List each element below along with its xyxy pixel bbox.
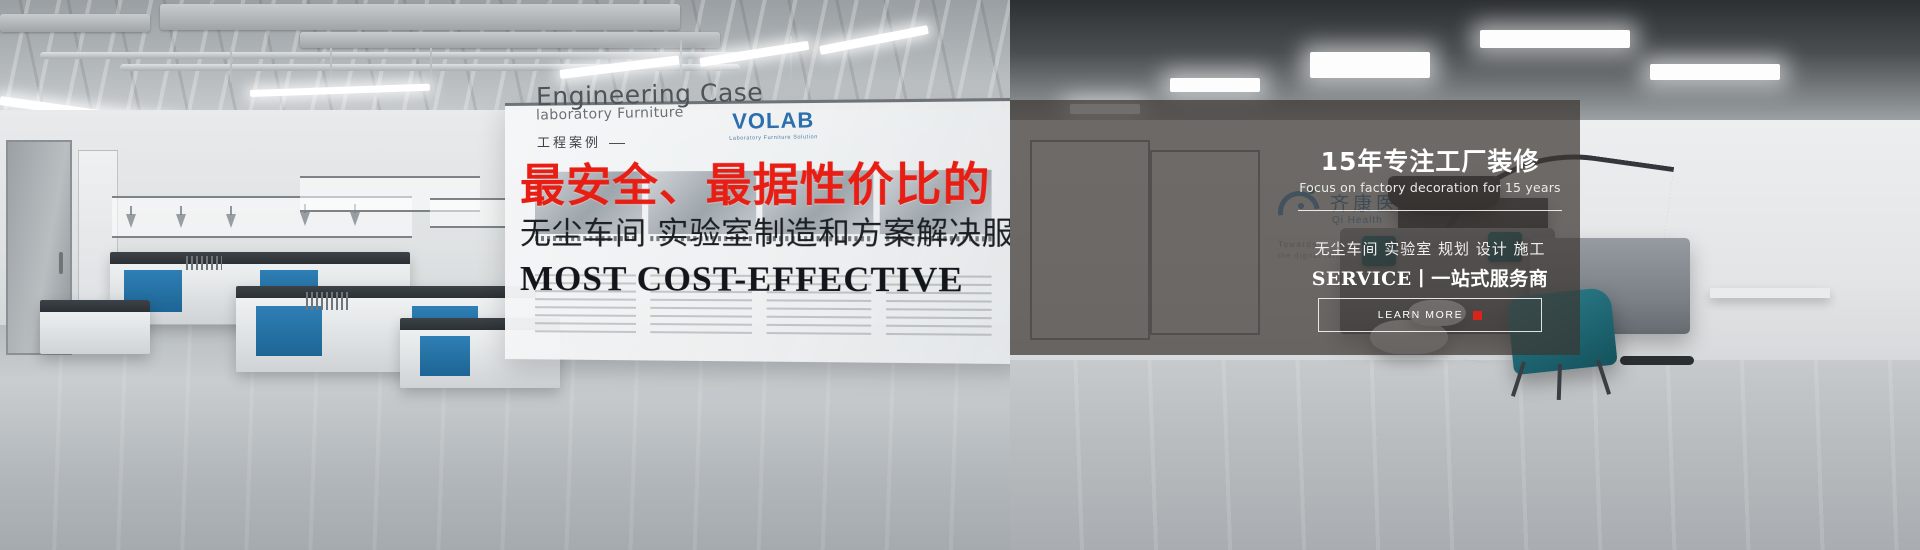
ceiling-duct <box>160 4 680 30</box>
banner-stage: Engineering Case laboratory Furniture 工程… <box>0 0 1920 550</box>
ceiling-duct <box>300 32 720 48</box>
glassware-shelf <box>430 198 510 228</box>
bench-cabinet <box>420 336 470 376</box>
ceiling-duct <box>0 14 150 32</box>
office-floor <box>1010 360 1920 550</box>
volab-logo: VOLAB Laboratory Furniture Solution <box>729 107 818 142</box>
bench-top <box>40 300 150 312</box>
learn-more-button[interactable]: LEARN MORE <box>1318 298 1542 332</box>
flask-neck <box>130 206 132 215</box>
ceiling-light-panel <box>1480 30 1630 48</box>
side-table <box>1710 288 1830 298</box>
signage-chinese-title: 工程案例 <box>537 132 625 151</box>
promo-overlay-panel: 15年专注工厂装修 Focus on factory decoration fo… <box>1010 100 1580 355</box>
title-dash <box>609 143 625 145</box>
headline-primary: 最安全、最据性价比的 <box>520 158 1001 212</box>
flask-icon <box>300 212 310 226</box>
light-hanger <box>330 48 332 88</box>
volab-wordmark: VOLAB <box>729 107 818 135</box>
flask-icon <box>126 214 136 228</box>
light-hanger <box>230 48 232 82</box>
promo-divider <box>1298 210 1562 211</box>
bench-top <box>236 286 536 298</box>
promo-title: 15年专注工厂装修 <box>1280 142 1580 178</box>
promo-content: 15年专注工厂装修 Focus on factory decoration fo… <box>1280 100 1580 355</box>
light-hanger <box>430 48 432 94</box>
headline-english: MOST COST-EFFECTIVE <box>520 258 1001 302</box>
flask-icon <box>226 214 236 228</box>
flask-neck <box>180 206 182 215</box>
ceiling-pipe <box>40 52 740 59</box>
promo-service-label: SERVICE丨一站式服务商 <box>1280 264 1580 291</box>
ceiling-light-panel <box>1310 52 1430 78</box>
promo-subtitle: Focus on factory decoration for 15 years <box>1280 180 1580 195</box>
learn-more-label: LEARN MORE <box>1378 309 1463 321</box>
flask-icon <box>176 214 186 228</box>
main-headline-block: 最安全、最据性价比的 无尘车间 实验室制造和方案解决服务商 MOST COST-… <box>520 158 1001 302</box>
ceiling-light-panel <box>1170 78 1260 92</box>
floor-lamp-base <box>1620 356 1694 365</box>
flask-neck <box>230 206 232 215</box>
promo-services: 无尘车间 实验室 规划 设计 施工 <box>1280 238 1580 259</box>
bench-cabinet <box>256 306 322 356</box>
signage-chinese-text: 工程案例 <box>537 135 601 150</box>
headline-secondary: 无尘车间 实验室制造和方案解决服务商 <box>520 214 1001 255</box>
flask-icon <box>350 212 360 226</box>
test-tube-rack <box>186 256 222 270</box>
signage-english-subtitle: laboratory Furniture <box>536 104 684 123</box>
lab-bench <box>40 300 150 354</box>
test-tube-rack <box>306 292 348 310</box>
bench-top <box>110 252 410 264</box>
red-dot-icon <box>1473 311 1482 320</box>
ceiling-light-panel <box>1650 64 1780 80</box>
